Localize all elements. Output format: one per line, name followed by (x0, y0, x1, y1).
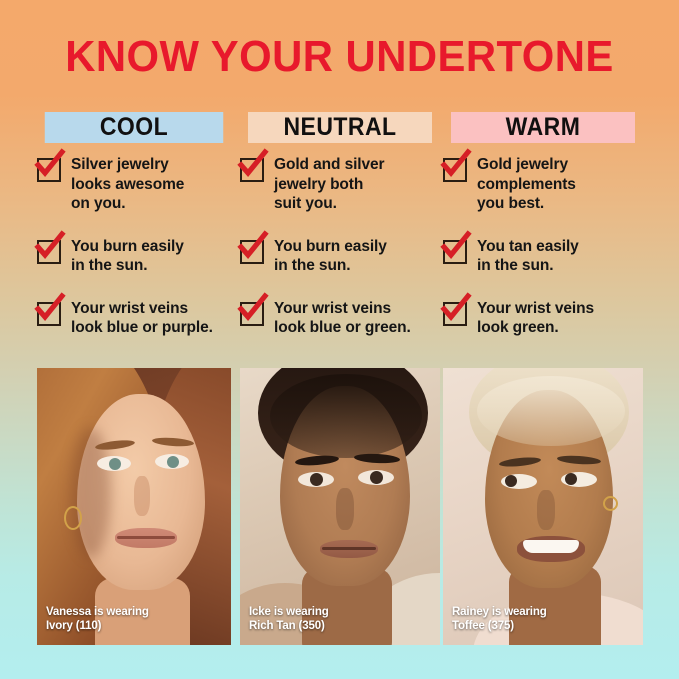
checklist-item-text: Your wrist veins look blue or purple. (71, 299, 213, 338)
checkbox-checked-icon[interactable] (240, 240, 264, 264)
checkbox-checked-icon[interactable] (443, 302, 467, 326)
text-line: You tan easily (477, 237, 579, 257)
checklist-item: You burn easily in the sun. (240, 237, 445, 276)
checklist-item: Gold jewelry complements you best. (443, 155, 648, 214)
checklist-item: Silver jewelry looks awesome on you. (37, 155, 242, 214)
checklist-item: Your wrist veins look green. (443, 299, 648, 338)
photo-caption: Vanessa is wearing Ivory (110) (46, 606, 149, 633)
text-line: Gold and silver (274, 155, 384, 175)
text-line: look blue or green. (274, 318, 411, 338)
caption-line-shade: Rich Tan (350) (249, 620, 329, 634)
text-line: in the sun. (477, 256, 579, 276)
checklist-item: You burn easily in the sun. (37, 237, 242, 276)
column-header-neutral: NEUTRAL (248, 112, 432, 143)
photo-caption: Icke is wearing Rich Tan (350) (249, 606, 329, 633)
checkbox-checked-icon[interactable] (443, 158, 467, 182)
checklist-column-warm: Gold jewelry complements you best. You t… (443, 155, 648, 351)
text-line: in the sun. (274, 256, 387, 276)
caption-line-model: Rainey is wearing (452, 606, 547, 620)
text-line: on you. (71, 194, 184, 214)
model-portrait-illustration (37, 368, 231, 645)
checkbox-checked-icon[interactable] (240, 302, 264, 326)
caption-line-shade: Ivory (110) (46, 620, 149, 634)
model-portrait-illustration (443, 368, 643, 645)
text-line: Gold jewelry (477, 155, 576, 175)
text-line: in the sun. (71, 256, 184, 276)
text-line: complements (477, 175, 576, 195)
checklist-item-text: You burn easily in the sun. (274, 237, 387, 276)
caption-line-model: Icke is wearing (249, 606, 329, 620)
page-title: KNOW YOUR UNDERTONE (17, 32, 662, 82)
checkbox-checked-icon[interactable] (37, 240, 61, 264)
column-header-cool: COOL (45, 112, 223, 143)
text-line: looks awesome (71, 175, 184, 195)
text-line: Your wrist veins (274, 299, 411, 319)
checklist-item-text: Silver jewelry looks awesome on you. (71, 155, 184, 214)
text-line: look green. (477, 318, 594, 338)
checklist-item-text: Gold jewelry complements you best. (477, 155, 576, 214)
column-header-neutral-label: NEUTRAL (283, 113, 396, 142)
checklist-item-text: You tan easily in the sun. (477, 237, 579, 276)
model-photo-neutral: Icke is wearing Rich Tan (350) (240, 368, 440, 645)
checklist-column-neutral: Gold and silver jewelry both suit you. Y… (240, 155, 445, 351)
model-portrait-illustration (240, 368, 440, 645)
checklist-item: Your wrist veins look blue or purple. (37, 299, 242, 338)
checklist-column-cool: Silver jewelry looks awesome on you. You… (37, 155, 242, 351)
text-line: Your wrist veins (71, 299, 213, 319)
text-line: you best. (477, 194, 576, 214)
checklist-item-text: You burn easily in the sun. (71, 237, 184, 276)
checkbox-checked-icon[interactable] (443, 240, 467, 264)
checkbox-checked-icon[interactable] (240, 158, 264, 182)
photo-caption: Rainey is wearing Toffee (375) (452, 606, 547, 633)
checklist-item-text: Gold and silver jewelry both suit you. (274, 155, 384, 214)
checkbox-checked-icon[interactable] (37, 302, 61, 326)
checklist-item: Gold and silver jewelry both suit you. (240, 155, 445, 214)
model-photo-cool: Vanessa is wearing Ivory (110) (37, 368, 231, 645)
text-line: Silver jewelry (71, 155, 184, 175)
caption-line-shade: Toffee (375) (452, 620, 547, 634)
checklist-item-text: Your wrist veins look green. (477, 299, 594, 338)
text-line: look blue or purple. (71, 318, 213, 338)
model-photo-warm: Rainey is wearing Toffee (375) (443, 368, 643, 645)
checklist-item: You tan easily in the sun. (443, 237, 648, 276)
text-line: You burn easily (71, 237, 184, 257)
text-line: suit you. (274, 194, 384, 214)
undertone-infographic: KNOW YOUR UNDERTONE COOL NEUTRAL WARM Si… (0, 0, 679, 679)
caption-line-model: Vanessa is wearing (46, 606, 149, 620)
text-line: Your wrist veins (477, 299, 594, 319)
text-line: You burn easily (274, 237, 387, 257)
checklist-item-text: Your wrist veins look blue or green. (274, 299, 411, 338)
column-header-warm-label: WARM (506, 113, 581, 142)
text-line: jewelry both (274, 175, 384, 195)
checklist-item: Your wrist veins look blue or green. (240, 299, 445, 338)
checkbox-checked-icon[interactable] (37, 158, 61, 182)
column-header-cool-label: COOL (100, 113, 168, 142)
column-header-warm: WARM (451, 112, 635, 143)
